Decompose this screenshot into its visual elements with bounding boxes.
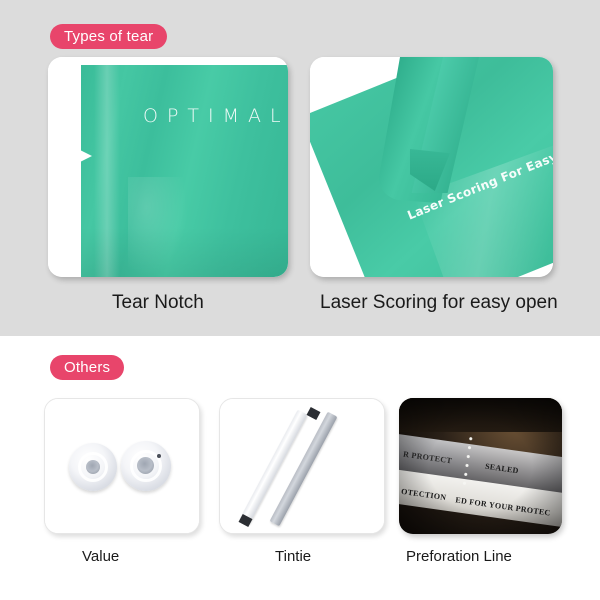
valve-core-left [86,460,100,474]
tear-notch-image: OPTIMAL [48,57,288,277]
product-feature-board: Types of tear OPTIMAL Laser Scoring For … [0,0,600,600]
photo-dark-background [399,398,562,432]
types-of-tear-section: Types of tear OPTIMAL Laser Scoring For … [0,0,600,336]
pouch-bottom-shading [81,227,288,277]
card-preforation-line[interactable]: R PROTECT SEALED OTECTION ED FOR YOUR PR… [399,398,562,534]
caption-valve: Value [82,548,119,565]
caption-tear-notch: Tear Notch [112,292,204,314]
card-valve[interactable] [44,398,200,534]
section-badge-others: Others [50,355,124,380]
tintie-image [220,399,384,533]
valve-core-right [137,457,154,474]
section-badge-types-of-tear: Types of tear [50,24,167,49]
caption-preforation-line: Preforation Line [406,548,512,565]
tintie-end-cap-top [307,407,321,420]
caption-tintie: Tintie [275,548,311,565]
card-tintie[interactable] [219,398,385,534]
valve-image [45,399,199,533]
caption-laser-scoring: Laser Scoring for easy open [320,292,558,314]
preforation-line-image: R PROTECT SEALED OTECTION ED FOR YOUR PR… [399,398,562,534]
tintie-strip-dark [270,412,338,527]
card-tear-notch[interactable]: OPTIMAL [48,57,288,277]
card-laser-scoring[interactable]: Laser Scoring For Easy Open P [310,57,553,277]
valve-speck [157,454,161,458]
laser-scoring-image: Laser Scoring For Easy Open P [310,57,553,277]
pouch-printed-brand: OPTIMAL [143,105,288,127]
